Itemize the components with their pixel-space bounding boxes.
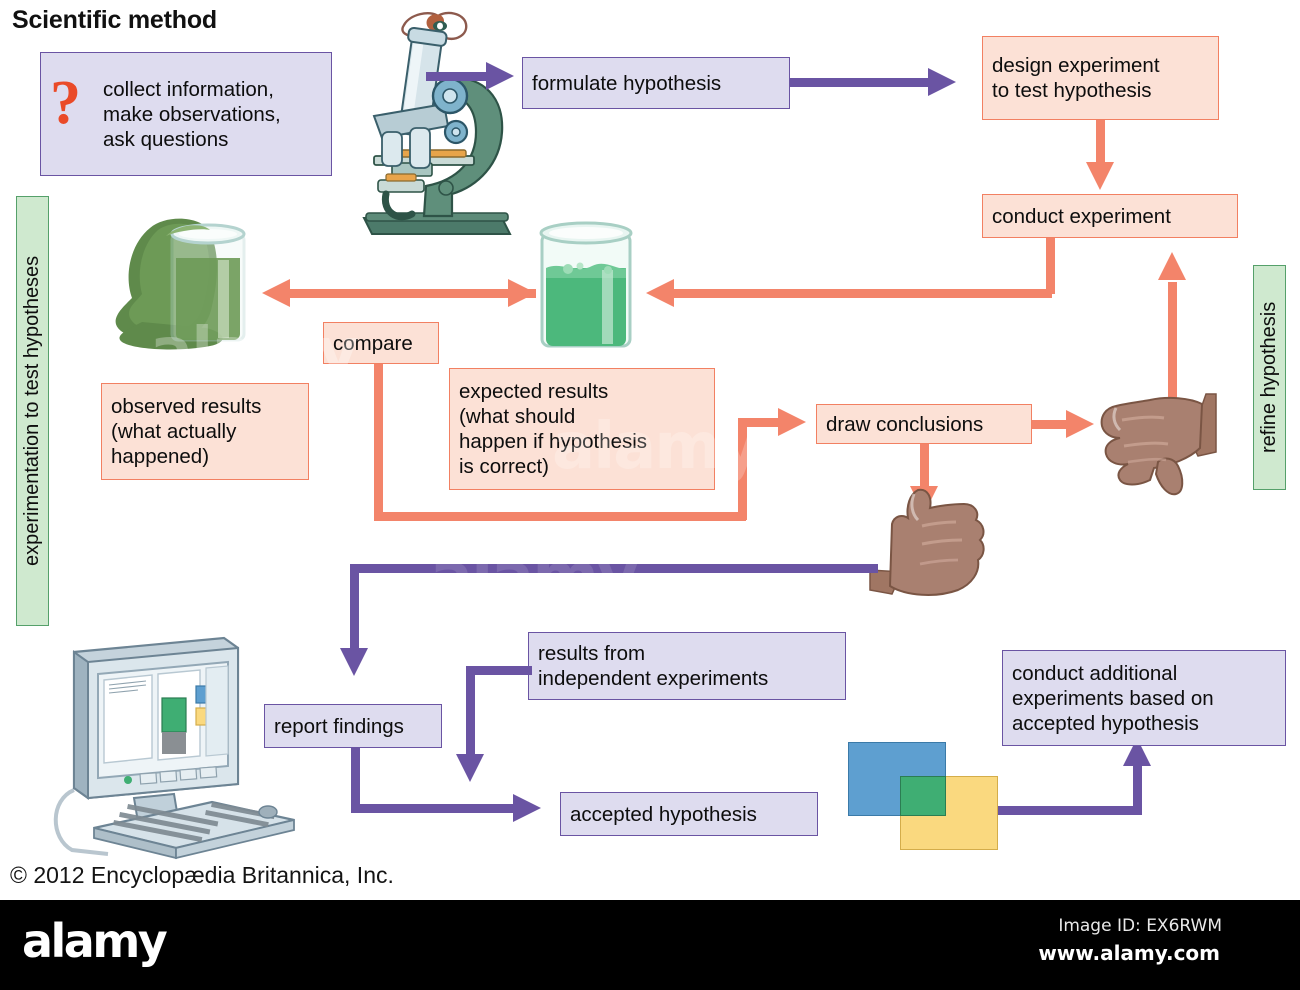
arrowhead-left: [646, 279, 674, 307]
arrowhead-up: [1158, 252, 1186, 280]
squares-path-horizontal: [998, 806, 1142, 815]
squares-path-vertical: [1133, 766, 1142, 814]
conduct-path-horizontal: [674, 289, 1052, 298]
box-compare[interactable]: compare: [323, 322, 439, 364]
arrowhead-right: [513, 794, 541, 822]
alamy-logo: alamy: [22, 914, 165, 968]
report-path-vertical: [351, 748, 360, 812]
box-draw-conclusions[interactable]: draw conclusions: [816, 404, 1032, 444]
box-conduct-experiment[interactable]: conduct experiment: [982, 194, 1238, 238]
box-design-experiment[interactable]: design experiment to test hypothesis: [982, 36, 1219, 120]
scientific-method-diagram: Scientific method experimentation to tes…: [0, 0, 1300, 900]
compare-stem-vertical: [374, 364, 383, 520]
arrowhead-down: [456, 754, 484, 782]
arrowhead-right: [486, 62, 514, 90]
box-observed-results[interactable]: observed results (what actually happened…: [101, 383, 309, 480]
ghost-watermark: alamy: [430, 540, 637, 614]
side-label-refine-hypothesis: refine hypothesis: [1253, 265, 1286, 490]
square-green-overlap: [900, 776, 946, 816]
arrowhead-left: [262, 279, 290, 307]
arrow-design-to-conduct: [1096, 120, 1105, 166]
arrowhead-right: [928, 68, 956, 96]
box-results-independent[interactable]: results from independent experiments: [528, 632, 846, 700]
thumbs-down-icon: [1098, 390, 1218, 500]
arrow-formulate-to-design: [790, 78, 932, 87]
box-report-findings[interactable]: report findings: [264, 704, 442, 748]
watermark-bar: alamy Image ID: EX6RWM www.alamy.com: [0, 900, 1300, 990]
independent-path-vertical: [466, 666, 475, 758]
arrow-microscope-to-formulate: [426, 72, 492, 81]
box-formulate-hypothesis[interactable]: formulate hypothesis: [522, 57, 790, 109]
compare-loop-vertical-right: [738, 418, 747, 520]
compare-loop-horizontal: [374, 512, 746, 521]
side-label-experimentation: experimentation to test hypotheses: [16, 196, 49, 626]
thumbsup-path-vertical: [350, 564, 359, 652]
copyright-credit: © 2012 Encyclopædia Britannica, Inc.: [10, 862, 394, 889]
arrowhead-down: [1086, 162, 1114, 190]
conduct-path-vertical: [1046, 238, 1055, 294]
box-expected-results[interactable]: expected results (what should happen if …: [449, 368, 715, 490]
report-path-horizontal: [351, 804, 517, 813]
compare-double-arrow-bar: [290, 289, 536, 298]
thumbsup-path-horizontal: [350, 564, 878, 573]
arrowhead-right: [1066, 410, 1094, 438]
box-accepted-hypothesis[interactable]: accepted hypothesis: [560, 792, 818, 836]
alamy-url: www.alamy.com: [1038, 941, 1220, 965]
box-collect-information[interactable]: collect information, make observations, …: [40, 52, 332, 176]
box-conduct-additional[interactable]: conduct additional experiments based on …: [1002, 650, 1286, 746]
arrowhead-down: [340, 648, 368, 676]
question-mark-icon: ?: [50, 72, 81, 134]
independent-path-horizontal: [466, 666, 532, 675]
thumbs-up-icon: [866, 478, 996, 606]
arrowhead-right: [778, 408, 806, 436]
page-title: Scientific method: [12, 6, 217, 35]
beaker-icon: [530, 216, 642, 356]
desktop-computer-icon: [48, 632, 304, 864]
compare-to-draw-horizontal: [746, 418, 782, 427]
microscope-icon: [352, 8, 532, 250]
image-id-label: Image ID: EX6RWM: [1058, 916, 1222, 936]
arrow-draw-to-thumbsdown: [1032, 420, 1070, 429]
overflowing-beaker-icon: [106, 210, 256, 358]
arrowhead-right: [508, 279, 536, 307]
screenshot-root: Scientific method experimentation to tes…: [0, 0, 1300, 990]
